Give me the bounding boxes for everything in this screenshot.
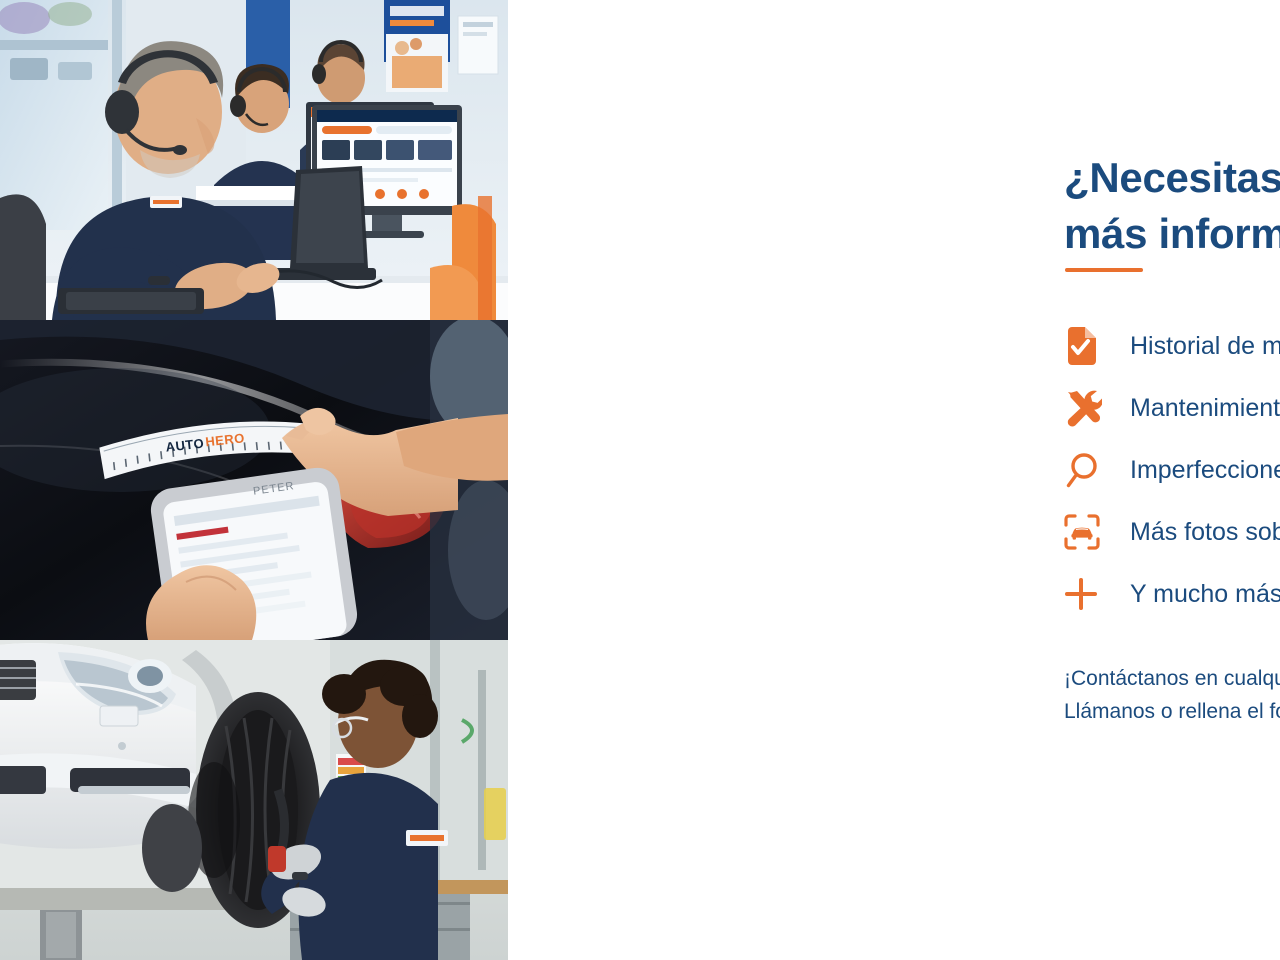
call-center-illustration bbox=[0, 0, 508, 320]
car-scan-icon bbox=[1064, 510, 1108, 554]
feature-label: Imperfecciones bbox=[1130, 458, 1280, 483]
workshop-technician-photo bbox=[0, 640, 508, 960]
wrench-screwdriver-icon bbox=[1064, 386, 1108, 430]
page-title: ¿Necesitas más información? bbox=[1064, 150, 1280, 262]
headline-line-2: más información? bbox=[1064, 206, 1280, 262]
feature-item-imperfecciones: Imperfecciones bbox=[1064, 439, 1280, 501]
feature-label: Historial de mantenimientos bbox=[1130, 334, 1280, 359]
document-check-icon bbox=[1064, 324, 1108, 368]
feature-label: Y mucho más bbox=[1130, 582, 1280, 607]
content-panel: ¿Necesitas más información? Historial de… bbox=[508, 0, 1280, 960]
contact-paragraph: ¡Contáctanos en cualquier momento para m… bbox=[1064, 662, 1280, 728]
autohero-info-banner: AUTO HERO bbox=[0, 0, 1280, 960]
contact-line-2: Llámanos o rellena el formulario de cont… bbox=[1064, 695, 1280, 728]
feature-label: Más fotos sobre el coche bbox=[1130, 520, 1280, 545]
title-underline-rule bbox=[1065, 268, 1143, 272]
paint-inspection-photo: AUTO HERO bbox=[0, 320, 508, 640]
feature-item-historial: Historial de mantenimientos bbox=[1064, 315, 1280, 377]
feature-label: Mantenimiento realizado bbox=[1130, 396, 1280, 421]
feature-list: Historial de mantenimientos Mantenimient… bbox=[1064, 315, 1280, 625]
plus-icon bbox=[1064, 572, 1108, 616]
paint-inspection-illustration: AUTO HERO bbox=[0, 320, 508, 640]
workshop-illustration bbox=[0, 640, 508, 960]
photo-column: AUTO HERO bbox=[0, 0, 508, 960]
contact-line-1: ¡Contáctanos en cualquier momento para m… bbox=[1064, 662, 1280, 695]
feature-item-fotos: Más fotos sobre el coche bbox=[1064, 501, 1280, 563]
headline-line-1: ¿Necesitas bbox=[1064, 150, 1280, 206]
magnifier-icon bbox=[1064, 448, 1108, 492]
feature-item-mucho-mas: Y mucho más bbox=[1064, 563, 1280, 625]
call-center-agents-photo bbox=[0, 0, 508, 320]
feature-item-mantenimiento: Mantenimiento realizado bbox=[1064, 377, 1280, 439]
